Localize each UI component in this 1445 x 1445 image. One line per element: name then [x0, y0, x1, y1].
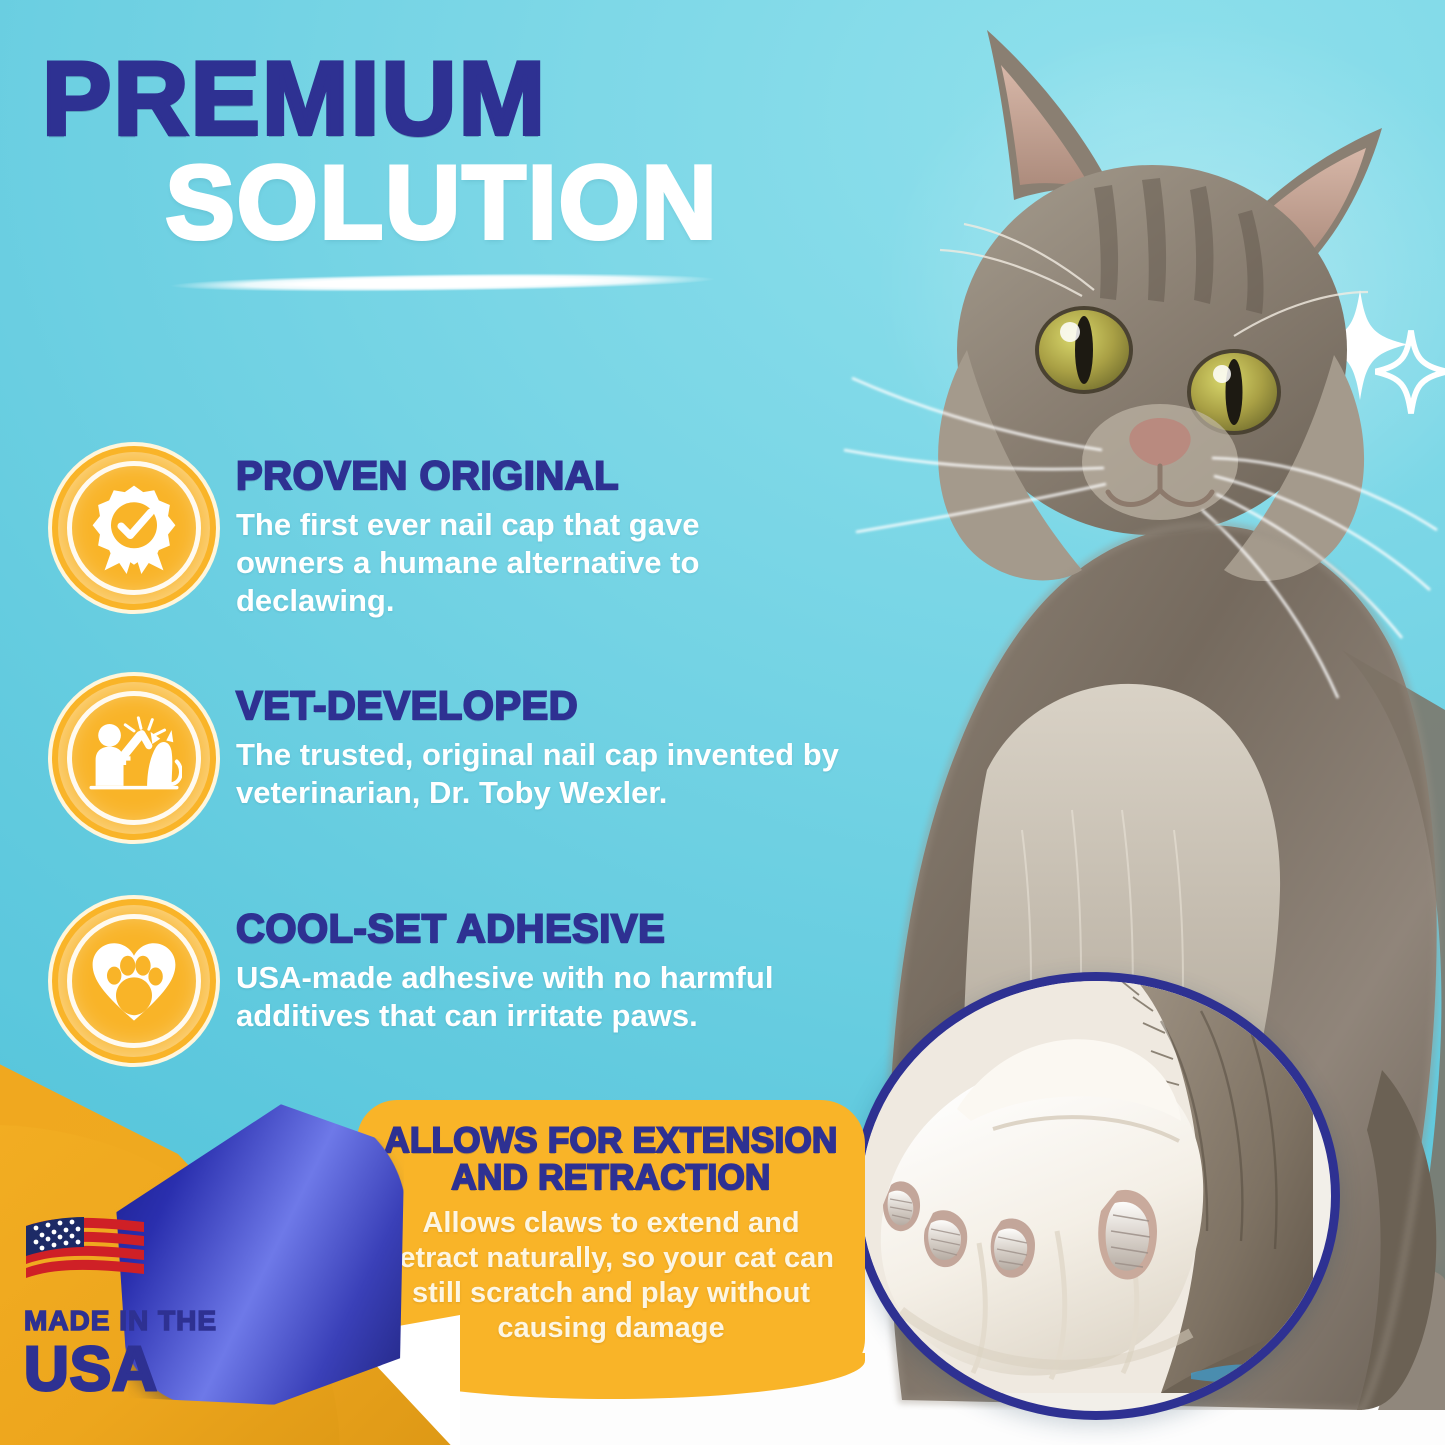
feature-cool-set-adhesive: COOL-SET ADHESIVE USA-made adhesive with…: [58, 905, 858, 1057]
callout-heading-line1: ALLOWS FOR EXTENSION: [384, 1121, 837, 1160]
cat-paw-closeup-photo: [852, 972, 1340, 1420]
made-in-usa-badge: MADE IN THE USA: [24, 1210, 314, 1401]
vet-highfive-cat-icon: [58, 682, 210, 834]
headline-solution: SOLUTION: [42, 154, 842, 253]
feature-heading: VET-DEVELOPED: [236, 686, 851, 728]
usa-label: USA: [24, 1339, 314, 1401]
feature-heading: PROVEN ORIGINAL: [236, 456, 816, 498]
feature-vet-developed: VET-DEVELOPED The trusted, original nail…: [58, 682, 858, 834]
brush-underline: [169, 271, 714, 295]
heart-paw-icon: [58, 905, 210, 1057]
award-ribbon-check-icon: [58, 452, 210, 604]
feature-body: USA-made adhesive with no harmful additi…: [236, 959, 816, 1036]
headline-premium: PREMIUM: [42, 52, 842, 148]
headline-block: PREMIUM SOLUTION: [42, 52, 842, 291]
feature-proven-original: PROVEN ORIGINAL The first ever nail cap …: [58, 452, 858, 621]
callout-heading-line2: AND RETRACTION: [451, 1158, 770, 1197]
made-in-the-label: MADE IN THE: [24, 1305, 314, 1337]
product-infographic: PREMIUM SOLUTION PROVEN ORIGINAL The fir…: [0, 0, 1445, 1445]
callout-heading: ALLOWS FOR EXTENSION AND RETRACTION: [375, 1122, 847, 1196]
usa-flag-icon: [24, 1210, 314, 1293]
feature-body: The trusted, original nail cap invented …: [236, 736, 851, 813]
feature-heading: COOL-SET ADHESIVE: [236, 909, 816, 951]
feature-body: The first ever nail cap that gave owners…: [236, 506, 816, 621]
